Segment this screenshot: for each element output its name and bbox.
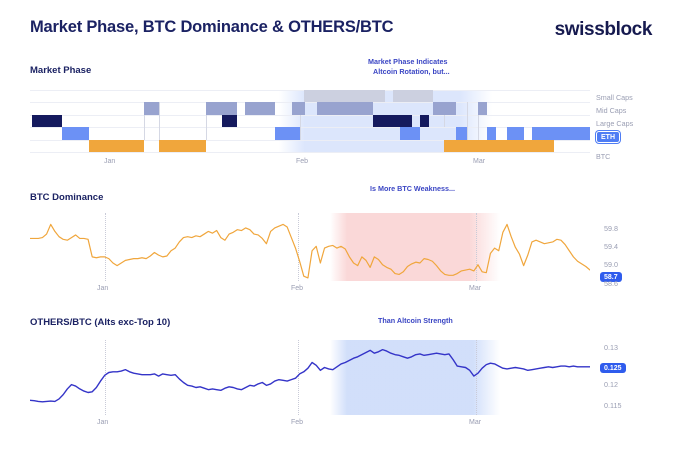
btc-dominance-line [30,213,590,281]
btc-dominance-ytick-598: 59.8 [604,224,618,233]
phase-riser [300,102,301,139]
btc-dominance-xtick-feb: Feb [291,285,303,292]
others-btc-xtick-jan: Jan [97,419,108,426]
btc-dominance-plot [30,213,590,281]
phase-block-small-caps [304,90,385,102]
row-label-btc: BTC [596,152,610,161]
others-btc-xtick-mar: Mar [469,419,481,426]
phase-riser [478,102,479,139]
others-btc-ytick-013: 0.13 [604,343,618,352]
panel-market-phase: Market Phase Market Phase Indicates Altc… [0,0,680,180]
phase-block-eth [275,127,300,139]
row-label-mid-caps: Mid Caps [596,106,626,115]
row-label-large-caps: Large Caps [596,119,633,128]
btc-dominance-ytick-590: 59.0 [604,260,618,269]
phase-block-large-caps [32,115,62,127]
others-btc-title: OTHERS/BTC (Alts exc-Top 10) [30,317,170,328]
btc-dominance-xtick-jan: Jan [97,285,108,292]
market-phase-xtick-feb: Feb [296,158,308,165]
gridline [30,127,590,128]
panel-others-btc: OTHERS/BTC (Alts exc-Top 10) Than Altcoi… [0,305,680,435]
phase-block-btc [89,140,143,152]
market-phase-plot [30,90,590,152]
row-label-small-caps: Small Caps [596,93,633,102]
btc-dominance-title: BTC Dominance [30,192,103,203]
btc-dominance-ytick-594: 59.4 [604,242,618,251]
market-phase-annotation: Market Phase Indicates Altcoin Rotation,… [368,57,548,76]
others-btc-xtick-feb: Feb [291,419,303,426]
market-phase-xtick-mar: Mar [473,158,485,165]
phase-block-small-caps [393,90,433,102]
others-btc-line [30,340,590,415]
market-phase-title: Market Phase [30,65,91,76]
phase-block-btc [444,140,553,152]
phase-riser [159,102,160,139]
panel-btc-dominance: BTC Dominance Is More BTC Weakness... 59… [0,180,680,300]
btc-dominance-ytick-586: 58.6 [604,279,618,288]
others-btc-annotation: Than Altcoin Strength [378,316,518,326]
phase-block-mid-caps [245,102,275,114]
phase-block-large-caps [222,115,237,127]
phase-block-eth [400,127,415,139]
btc-dominance-xtick-mar: Mar [469,285,481,292]
gridline [30,115,590,116]
poster-root: Market Phase, BTC Dominance & OTHERS/BTC… [0,0,680,464]
others-btc-plot [30,340,590,415]
others-btc-ytick-0115: 0.115 [604,401,621,410]
phase-block-mid-caps [206,102,236,114]
phase-riser [444,102,445,127]
market-phase-annotation-line1: Market Phase Indicates [368,57,548,67]
phase-block-eth [62,127,89,139]
market-phase-xtick-jan: Jan [104,158,115,165]
gridline [30,152,590,153]
market-phase-annotation-line2: Altcoin Rotation, but... [373,67,548,77]
row-label-eth-badge: ETH [596,131,620,143]
gridline [30,102,590,103]
phase-riser [467,102,468,139]
btc-dominance-annotation: Is More BTC Weakness... [370,184,520,194]
phase-block-btc [159,140,207,152]
others-btc-current-value: 0.125 [600,363,626,373]
phase-block-mid-caps [144,102,159,114]
others-btc-ytick-012: 0.12 [604,380,618,389]
